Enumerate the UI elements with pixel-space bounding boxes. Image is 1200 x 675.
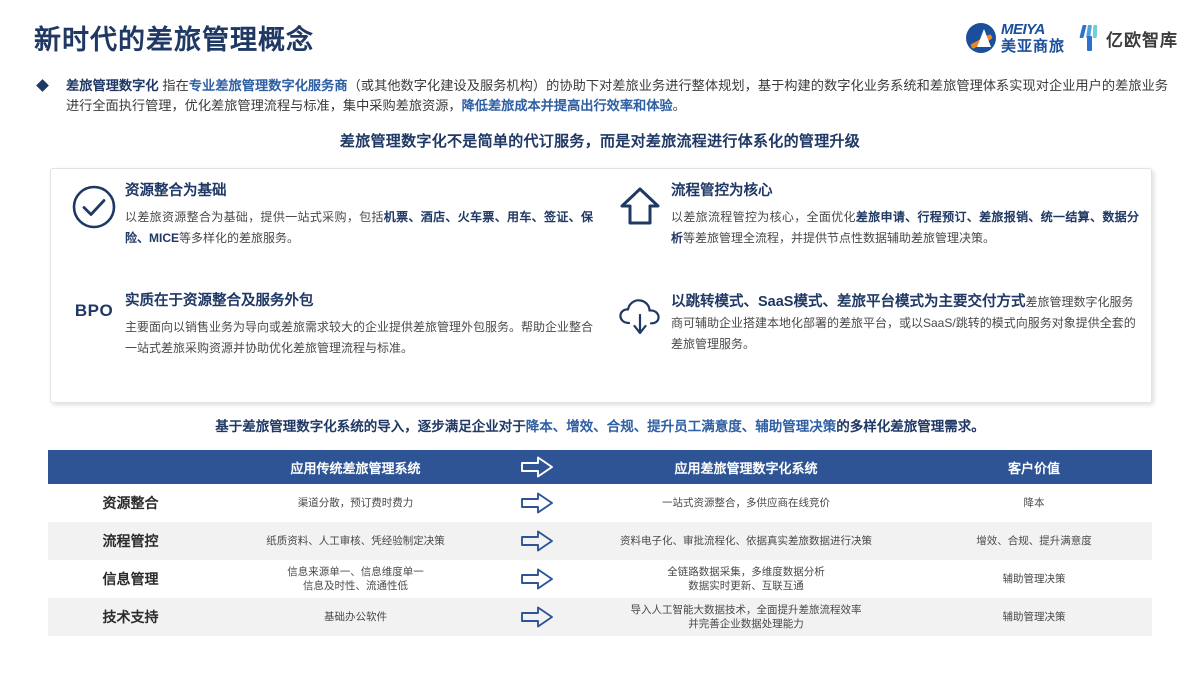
card-delivery-title: 以跳转模式、SaaS模式、差旅平台模式为主要交付方式 — [671, 294, 1025, 310]
card-delivery-body: 以跳转模式、SaaS模式、差旅平台模式为主要交付方式差旅管理数字化服务商可辅助企… — [671, 291, 1139, 355]
header-cell-legacy: 应用传统差旅管理系统 — [213, 450, 498, 484]
row-label: 信息管理 — [48, 560, 213, 598]
up-arrow-outline-icon — [609, 181, 671, 231]
meiya-logo-latin: MEIYA — [1001, 22, 1065, 37]
header-cell-blank — [48, 450, 213, 484]
row-arrow-right-outline-icon — [498, 522, 576, 560]
card-bpo: BPO 实质在于资源整合及服务外包 主要面向以销售业务为导向或差旅需求较大的企业… — [63, 291, 593, 359]
row-arrow-right-outline-icon — [498, 484, 576, 522]
table-body: 资源整合 渠道分散，预订费时费力 一站式资源整合，多供应商在线竞价 降本 流程管… — [48, 484, 1152, 636]
logo-group: MEIYA 美亚商旅 亿欧智库 — [966, 22, 1178, 54]
meiya-circle-swoosh-icon — [966, 23, 996, 53]
row-digital: 一站式资源整合，多供应商在线竞价 — [576, 484, 916, 522]
row-arrow-right-outline-icon — [498, 560, 576, 598]
row-arrow-right-outline-icon — [498, 598, 576, 636]
card-process-control: 流程管控为核心 以差旅流程管控为核心，全面优化差旅申请、行程预订、差旅报销、统一… — [609, 181, 1139, 249]
row-label: 流程管控 — [48, 522, 213, 560]
card-process-body: 流程管控为核心 以差旅流程管控为核心，全面优化差旅申请、行程预订、差旅报销、统一… — [671, 181, 1139, 249]
eo-y-mark-icon — [1079, 24, 1101, 52]
card-resource-title: 资源整合为基础 — [125, 181, 593, 201]
row-legacy: 信息来源单一、信息维度单一信息及时性、流通性低 — [213, 560, 498, 598]
sub-headline: 差旅管理数字化不是简单的代订服务，而是对差旅流程进行体系化的管理升级 — [0, 130, 1200, 151]
row-digital: 全链路数据采集，多维度数据分析数据实时更新、互联互通 — [576, 560, 916, 598]
eo-intelligence-logo: 亿欧智库 — [1079, 24, 1178, 52]
card-process-title: 流程管控为核心 — [671, 181, 1139, 201]
comparison-table: 应用传统差旅管理系统 应用差旅管理数字化系统 客户价值 资源整合 渠道分散，预订… — [48, 450, 1152, 636]
row-value: 辅助管理决策 — [916, 560, 1152, 598]
meiya-logo-text: MEIYA 美亚商旅 — [1001, 22, 1065, 54]
cloud-download-icon — [609, 291, 671, 341]
table-row: 流程管控 纸质资料、人工审核、凭经验制定决策 资料电子化、审批流程化、依据真实差… — [48, 522, 1152, 560]
row-legacy: 渠道分散，预订费时费力 — [213, 484, 498, 522]
card-resource-body: 资源整合为基础 以差旅资源整合为基础，提供一站式采购，包括机票、酒店、火车票、用… — [125, 181, 593, 249]
card-bpo-desc: 主要面向以销售业务为导向或差旅需求较大的企业提供差旅管理外包服务。帮助企业整合一… — [125, 317, 593, 359]
header-arrow-right-outline-icon — [498, 450, 576, 484]
bpo-text-icon: BPO — [63, 291, 125, 321]
page-title: 新时代的差旅管理概念 — [34, 18, 314, 57]
row-digital: 导入人工智能大数据技术，全面提升差旅流程效率并完善企业数据处理能力 — [576, 598, 916, 636]
row-label: 技术支持 — [48, 598, 213, 636]
row-legacy: 纸质资料、人工审核、凭经验制定决策 — [213, 522, 498, 560]
header-cell-value: 客户价值 — [916, 450, 1152, 484]
table-row: 资源整合 渠道分散，预订费时费力 一站式资源整合，多供应商在线竞价 降本 — [48, 484, 1152, 522]
card-resource-desc: 以差旅资源整合为基础，提供一站式采购，包括机票、酒店、火车票、用车、签证、保险、… — [125, 207, 593, 249]
card-bpo-body: 实质在于资源整合及服务外包 主要面向以销售业务为导向或差旅需求较大的企业提供差旅… — [125, 291, 593, 359]
slide-header: 新时代的差旅管理概念 MEIYA 美亚商旅 亿欧智库 — [0, 0, 1200, 62]
row-value: 降本 — [916, 484, 1152, 522]
meiya-logo: MEIYA 美亚商旅 — [966, 22, 1065, 54]
row-value: 辅助管理决策 — [916, 598, 1152, 636]
card-delivery-mode: 以跳转模式、SaaS模式、差旅平台模式为主要交付方式差旅管理数字化服务商可辅助企… — [609, 291, 1139, 355]
table-header: 应用传统差旅管理系统 应用差旅管理数字化系统 客户价值 — [48, 450, 1152, 484]
row-label: 资源整合 — [48, 484, 213, 522]
meiya-logo-chinese: 美亚商旅 — [1001, 39, 1065, 54]
row-legacy: 基础办公软件 — [213, 598, 498, 636]
diamond-bullet-icon — [36, 79, 49, 92]
intro-block: 差旅管理数字化 指在专业差旅管理数字化服务商（或其他数字化建设及服务机构）的协助… — [38, 76, 1168, 116]
header-cell-digital: 应用差旅管理数字化系统 — [576, 450, 916, 484]
card-resource-integration: 资源整合为基础 以差旅资源整合为基础，提供一站式采购，包括机票、酒店、火车票、用… — [63, 181, 593, 249]
intro-paragraph: 差旅管理数字化 指在专业差旅管理数字化服务商（或其他数字化建设及服务机构）的协助… — [66, 76, 1168, 116]
row-digital: 资料电子化、审批流程化、依据真实差旅数据进行决策 — [576, 522, 916, 560]
eo-logo-chinese: 亿欧智库 — [1106, 26, 1178, 51]
bpo-label: BPO — [75, 293, 113, 321]
card-bpo-title: 实质在于资源整合及服务外包 — [125, 291, 593, 311]
concept-card-panel: 资源整合为基础 以差旅资源整合为基础，提供一站式采购，包括机票、酒店、火车票、用… — [50, 168, 1152, 403]
row-value: 增效、合规、提升满意度 — [916, 522, 1152, 560]
check-circle-icon — [63, 181, 125, 231]
table-row: 信息管理 信息来源单一、信息维度单一信息及时性、流通性低 全链路数据采集，多维度… — [48, 560, 1152, 598]
table-header-row: 应用传统差旅管理系统 应用差旅管理数字化系统 客户价值 — [48, 450, 1152, 484]
table-lead-in-text: 基于差旅管理数字化系统的导入，逐步满足企业对于降本、增效、合规、提升员工满意度、… — [0, 415, 1200, 435]
card-process-desc: 以差旅流程管控为核心，全面优化差旅申请、行程预订、差旅报销、统一结算、数据分析等… — [671, 207, 1139, 249]
table-row: 技术支持 基础办公软件 导入人工智能大数据技术，全面提升差旅流程效率并完善企业数… — [48, 598, 1152, 636]
